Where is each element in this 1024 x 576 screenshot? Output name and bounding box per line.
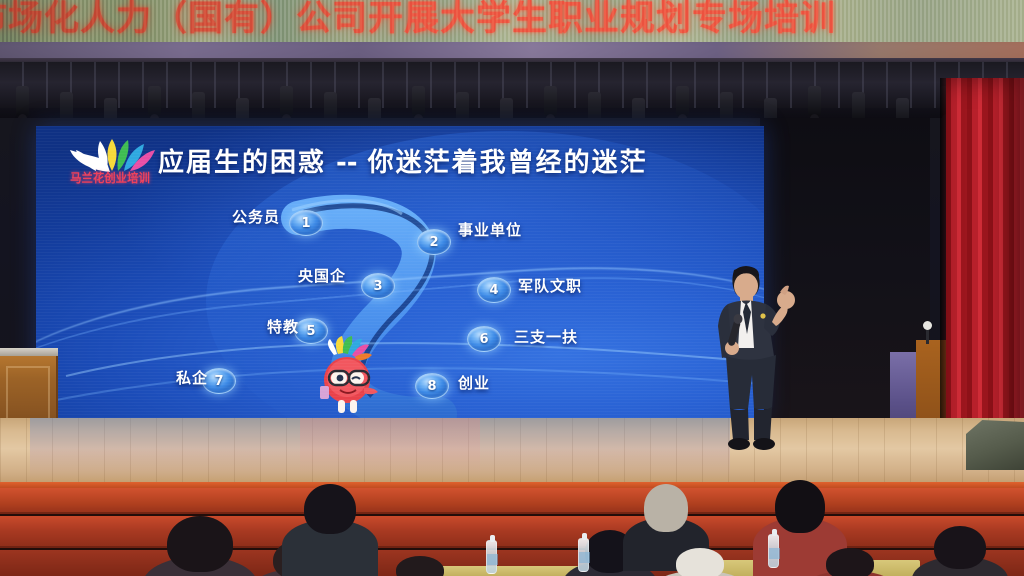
stage-light	[148, 86, 161, 116]
audience-member-head	[826, 548, 874, 576]
audience-member-head	[934, 526, 986, 569]
stage-step-1	[0, 488, 1024, 514]
path-node-4: 4	[477, 277, 511, 303]
bottle-label	[487, 554, 498, 565]
stage-light	[412, 86, 425, 116]
path-node-label-5: 特教	[36, 316, 299, 337]
path-node-label-4: 军队文职	[518, 275, 582, 296]
banner-shadow-overlay	[0, 0, 430, 42]
path-node-label-2: 事业单位	[458, 219, 522, 240]
path-node-label-3: 央国企	[36, 265, 346, 286]
path-node-3: 3	[361, 273, 395, 299]
ceiling-light-strip	[0, 42, 1024, 58]
stage-light	[16, 86, 29, 116]
brand-name-text: 马兰花创业培训	[63, 169, 158, 186]
auditorium-photo: 市场化人力（国有）公司开展大学生职业规划专场培训	[0, 0, 1024, 576]
bottle-label	[579, 552, 590, 563]
flower-logo-icon	[66, 138, 156, 172]
slide-title-dash: --	[326, 148, 368, 178]
water-bottle	[486, 540, 497, 574]
slide-title-main: 应届生的困惑	[158, 148, 326, 178]
path-node-6: 6	[467, 326, 501, 352]
led-presentation-screen: 马兰花创业培训 应届生的困惑--你迷茫着我曾经的迷茫 1公务员2事业单位3央国企…	[36, 126, 764, 418]
stage-light	[808, 86, 821, 116]
water-bottle	[768, 534, 779, 568]
stage-light	[280, 86, 293, 116]
stage-light	[676, 86, 689, 116]
podium-microphone	[926, 326, 929, 344]
stage-step-2	[0, 516, 1024, 548]
stage-monitor-wedge	[966, 420, 1024, 470]
slide-title: 应届生的困惑--你迷茫着我曾经的迷茫	[158, 142, 738, 179]
floor-warm-reflection	[300, 418, 480, 476]
path-node-1: 1	[289, 210, 323, 236]
audience-member-head	[167, 516, 232, 572]
stage-light	[544, 86, 557, 116]
audience-member-head	[676, 548, 725, 576]
audience-member-head	[775, 480, 825, 533]
path-node-label-6: 三支一扶	[514, 326, 578, 347]
path-node-8: 8	[415, 373, 449, 399]
water-bottle	[578, 538, 589, 572]
path-node-label-7: 私企	[36, 367, 208, 388]
slide-title-sub: 你迷茫着我曾经的迷茫	[368, 148, 648, 178]
mascot-character	[312, 334, 386, 414]
path-node-label-8: 创业	[458, 372, 490, 393]
audience-member-head	[644, 484, 689, 532]
audience-member-head	[304, 484, 356, 534]
event-banner: 市场化人力（国有）公司开展大学生职业规划专场培训	[0, 0, 1024, 42]
brand-logo: 马兰花创业培训	[58, 138, 162, 192]
red-stage-curtain	[946, 78, 1024, 448]
path-node-label-1: 公务员	[36, 206, 280, 227]
banner-text: 市场化人力（国有）公司开展大学生职业规划专场培训	[0, 0, 1024, 42]
bottle-label	[769, 548, 780, 559]
audience-member-head	[396, 556, 444, 576]
path-node-2: 2	[417, 229, 451, 255]
presenter-figure	[694, 262, 802, 454]
